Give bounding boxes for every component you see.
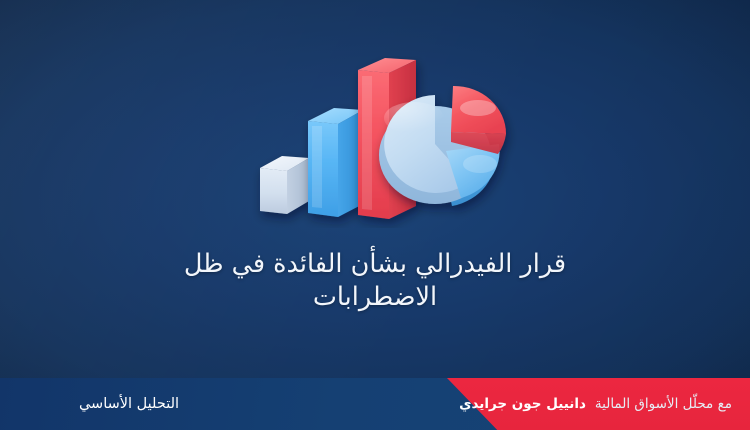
presenter-credit: مع محلّل الأسواق المالية دانييل جون جراي…: [459, 378, 732, 430]
presenter-credit-lead: مع محلّل الأسواق المالية: [595, 396, 732, 412]
presenter-name: دانييل جون جرايدي: [459, 396, 590, 412]
page-title-line-1: قرار الفيدرالي بشأن الفائدة في ظل: [110, 248, 640, 281]
bar-small-grey: [260, 156, 309, 214]
page-title-line-2: الاضطرابات: [110, 281, 640, 314]
bar-medium-blue: [308, 108, 363, 217]
page-title: قرار الفيدرالي بشأن الفائدة في ظل الاضطر…: [110, 248, 640, 313]
chart-illustration: [246, 56, 518, 228]
section-label: التحليل الأساسي: [0, 378, 258, 430]
footer-bar: مع محلّل الأسواق المالية دانييل جون جراي…: [0, 378, 750, 430]
banner-canvas: قرار الفيدرالي بشأن الفائدة في ظل الاضطر…: [0, 0, 750, 430]
